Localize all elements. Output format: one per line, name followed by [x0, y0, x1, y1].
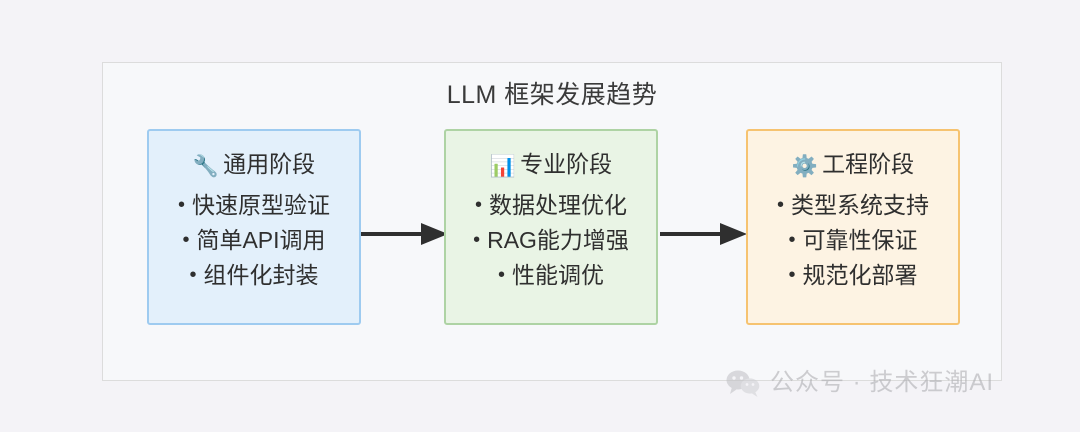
stage-card-engineering[interactable]: ⚙️工程阶段 类型系统支持 可靠性保证 规范化部署 — [746, 129, 960, 325]
list-item: 规范化部署 — [748, 258, 958, 293]
list-item: 性能调优 — [446, 258, 656, 293]
stage-card-professional[interactable]: 📊专业阶段 数据处理优化 RAG能力增强 性能调优 — [444, 129, 658, 325]
stage-bullet-list: 类型系统支持 可靠性保证 规范化部署 — [748, 188, 958, 293]
stage-card-general[interactable]: 🔧通用阶段 快速原型验证 简单API调用 组件化封装 — [147, 129, 361, 325]
arrow-professional-to-engineering — [660, 223, 747, 245]
wechat-icon — [726, 369, 760, 397]
list-item: 可靠性保证 — [748, 223, 958, 258]
list-item: 组件化封装 — [149, 258, 359, 293]
stage-heading: ⚙️工程阶段 — [748, 149, 958, 182]
stage-heading-label: 专业阶段 — [520, 151, 612, 177]
list-item: RAG能力增强 — [446, 223, 656, 258]
list-item: 类型系统支持 — [748, 188, 958, 223]
gear-icon: ⚙️ — [792, 155, 818, 178]
watermark-text: 公众号 · 技术狂潮AI — [770, 368, 994, 398]
list-item: 数据处理优化 — [446, 188, 656, 223]
stage-heading-label: 通用阶段 — [223, 151, 315, 177]
list-item: 简单API调用 — [149, 223, 359, 258]
stage-heading-label: 工程阶段 — [822, 151, 914, 177]
diagram-container: LLM 框架发展趋势 🔧通用阶段 快速原型验证 简单API调用 组件化封装 📊专… — [102, 62, 1002, 381]
stage-heading: 📊专业阶段 — [446, 149, 656, 182]
arrow-general-to-professional — [361, 223, 448, 245]
stage-heading: 🔧通用阶段 — [149, 149, 359, 182]
bar-chart-icon: 📊 — [490, 155, 516, 178]
watermark: 公众号 · 技术狂潮AI — [726, 366, 994, 400]
stage-bullet-list: 数据处理优化 RAG能力增强 性能调优 — [446, 188, 656, 293]
stage-bullet-list: 快速原型验证 简单API调用 组件化封装 — [149, 188, 359, 293]
stage-row: 🔧通用阶段 快速原型验证 简单API调用 组件化封装 📊专业阶段 数据处理优化 … — [103, 129, 1001, 329]
diagram-title: LLM 框架发展趋势 — [103, 79, 1001, 111]
wrench-icon: 🔧 — [193, 155, 219, 178]
list-item: 快速原型验证 — [149, 188, 359, 223]
